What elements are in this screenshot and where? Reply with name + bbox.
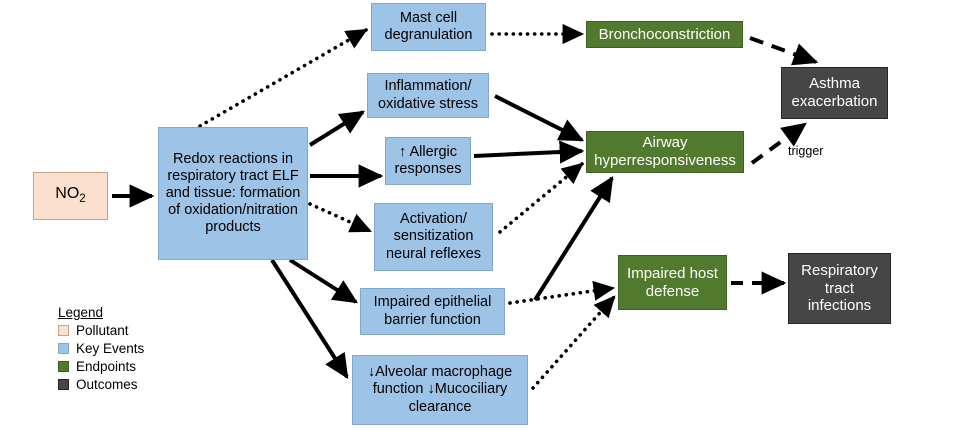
node-airway-hyperresponsiveness-label: Airway hyperresponsiveness [591,134,739,169]
edge-alveolar-to-host-defense [533,297,614,388]
node-alveolar-macrophage-mucociliary[interactable]: ↓Alveolar macrophage function ↓Mucocilia… [352,355,528,425]
node-impaired-epithelial-barrier[interactable]: Impaired epithelial barrier function [360,288,505,335]
edge-redox-to-epithelial [290,260,356,302]
node-bronchoconstriction[interactable]: Bronchoconstriction [586,21,743,48]
legend-label-pollutant: Pollutant [76,323,129,338]
edge-redox-to-inflammation [310,112,363,145]
legend-label-endpoints: Endpoints [76,359,136,374]
legend-swatch-key-events-icon [58,343,69,354]
node-allergic-responses[interactable]: ↑ Allergic responses [385,137,471,185]
node-alveolar-macrophage-mucociliary-label: ↓Alveolar macrophage function ↓Mucocilia… [357,364,523,415]
node-asthma-exacerbation-label: Asthma exacerbation [786,75,883,110]
edge-redox-to-mast-cell [200,30,366,126]
node-redox-reactions[interactable]: Redox reactions in respiratory tract ELF… [158,127,308,260]
legend-item-key-events: Key Events [58,340,144,357]
legend-label-outcomes: Outcomes [76,377,138,392]
node-airway-hyperresponsiveness[interactable]: Airway hyperresponsiveness [586,131,744,173]
node-respiratory-tract-infections-label: Respiratory tract infections [793,262,886,315]
legend: Legend Pollutant Key Events Endpoints Ou… [58,305,144,393]
node-inflammation-oxidative-stress[interactable]: Inflammation/ oxidative stress [367,73,489,118]
legend-item-pollutant: Pollutant [58,322,144,339]
edge-allergic-to-airway [474,151,582,156]
edge-redox-to-alveolar [272,260,347,377]
legend-swatch-endpoints-icon [58,361,69,372]
node-activation-sensitization[interactable]: Activation/ sensitization neural reflexe… [374,203,493,271]
edge-redox-to-activation [310,204,370,231]
edge-inflammation-to-airway [495,96,582,140]
legend-swatch-outcomes-icon [58,379,69,390]
edge-label-trigger: trigger [788,144,823,158]
node-impaired-host-defense-label: Impaired host defense [623,265,722,300]
node-mast-cell-degranulation[interactable]: Mast cell degranulation [371,3,486,51]
node-asthma-exacerbation[interactable]: Asthma exacerbation [781,67,888,119]
node-no2-label: NO2 [38,185,103,207]
edge-epithelial-to-host-defense [510,288,613,303]
legend-label-key-events: Key Events [76,341,144,356]
node-no2[interactable]: NO2 [33,172,108,220]
diagram-canvas: NO2 Redox reactions in respiratory tract… [0,0,960,444]
node-redox-reactions-label: Redox reactions in respiratory tract ELF… [163,151,303,237]
node-inflammation-oxidative-stress-label: Inflammation/ oxidative stress [372,78,484,112]
node-mast-cell-degranulation-label: Mast cell degranulation [376,10,481,44]
legend-item-outcomes: Outcomes [58,376,144,393]
node-bronchoconstriction-label: Bronchoconstriction [591,26,738,44]
node-impaired-epithelial-barrier-label: Impaired epithelial barrier function [365,294,500,328]
node-respiratory-tract-infections[interactable]: Respiratory tract infections [788,253,891,324]
edge-epithelial-to-airway [535,178,612,300]
node-impaired-host-defense[interactable]: Impaired host defense [618,255,727,310]
legend-item-endpoints: Endpoints [58,358,144,375]
legend-title: Legend [58,305,144,320]
node-allergic-responses-label: ↑ Allergic responses [390,144,466,178]
legend-swatch-pollutant-icon [58,325,69,336]
edge-bronchoconstriction-to-asthma [750,38,816,62]
node-activation-sensitization-label: Activation/ sensitization neural reflexe… [379,211,488,262]
edge-activation-to-airway [500,164,582,232]
